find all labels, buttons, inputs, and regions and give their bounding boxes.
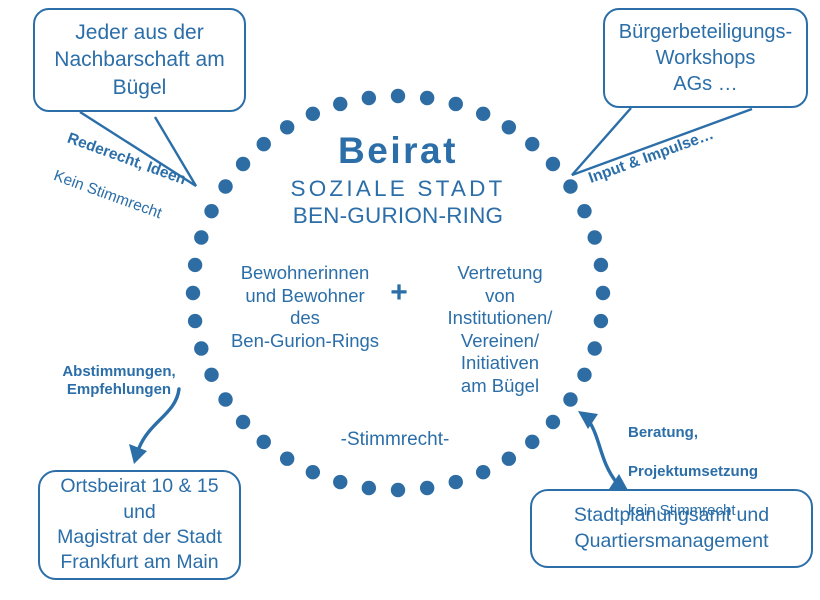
caption-input-impulse: Input & Impulse…	[586, 125, 717, 189]
ring-dot	[362, 481, 376, 495]
ring-dot	[280, 452, 294, 466]
ring-dot	[594, 258, 608, 272]
ring-dot	[204, 368, 218, 382]
subtitle-soziale-stadt: SOZIALE STADT	[248, 175, 548, 202]
ring-dot	[333, 97, 347, 111]
arrowhead-abstimmungen	[129, 444, 147, 464]
ring-dot	[563, 179, 577, 193]
ring-dot	[218, 179, 232, 193]
ring-dot	[420, 91, 434, 105]
caption-beratung-line3: kein Stimmrecht	[628, 501, 808, 521]
ring-dot	[449, 475, 463, 489]
plus-icon: +	[386, 278, 412, 308]
ring-dot	[476, 465, 490, 479]
ring-dot	[525, 435, 539, 449]
bubble-neighbourhood[interactable]: Jeder aus der Nachbarschaft am Bügel	[33, 8, 246, 112]
ring-dot	[588, 341, 602, 355]
voting-rights-note: -Stimmrecht-	[300, 428, 490, 451]
box-ortsbeirat-text: Ortsbeirat 10 & 15 und Magistrat der Sta…	[57, 474, 222, 575]
caption-abstimmungen: Abstimmungen, Empfehlungen	[44, 363, 194, 400]
ring-dot	[577, 204, 591, 218]
ring-dot	[186, 286, 200, 300]
page-title: Beirat	[248, 128, 548, 173]
bubble-participation-text: Bürgerbeteiligungs- Workshops AGs …	[619, 19, 792, 97]
column-institutions: Vertretung von Institutionen/ Vereinen/ …	[420, 262, 580, 397]
box-ortsbeirat[interactable]: Ortsbeirat 10 & 15 und Magistrat der Sta…	[38, 470, 241, 580]
ring-dot	[306, 465, 320, 479]
column-residents: Bewohnerinnen und Bewohner des Ben-Gurio…	[215, 262, 395, 352]
ring-dot	[306, 107, 320, 121]
ring-dot	[546, 415, 560, 429]
arrow-beratung	[589, 421, 617, 483]
ring-dot	[391, 483, 405, 497]
ring-dot	[333, 475, 347, 489]
ring-dot	[204, 204, 218, 218]
subtitle-ben-gurion-ring: BEN-GURION-RING	[248, 202, 548, 229]
caption-beratung-line2: Projektumsetzung	[628, 462, 808, 482]
ring-dot	[588, 230, 602, 244]
ring-dot	[194, 341, 208, 355]
ring-dot	[596, 286, 610, 300]
ring-dot	[449, 97, 463, 111]
ring-dot	[188, 258, 202, 272]
ring-dot	[257, 435, 271, 449]
ring-dot	[362, 91, 376, 105]
ring-dot	[420, 481, 434, 495]
ring-dot	[502, 452, 516, 466]
ring-dot	[391, 89, 405, 103]
ring-dot	[194, 230, 208, 244]
caption-beratung-line1: Beratung,	[628, 423, 808, 443]
bubble-participation[interactable]: Bürgerbeteiligungs- Workshops AGs …	[603, 8, 808, 108]
bubble-neighbourhood-text: Jeder aus der Nachbarschaft am Bügel	[54, 19, 224, 101]
ring-dot	[476, 107, 490, 121]
ring-dot	[218, 392, 232, 406]
ring-dot	[188, 314, 202, 328]
caption-beratung: Beratung, Projektumsetzung kein Stimmrec…	[628, 403, 808, 540]
ring-dot	[594, 314, 608, 328]
ring-dot	[236, 415, 250, 429]
arrowhead-beratung-up	[578, 411, 598, 429]
caption-rederecht: Rederecht, Ideen Kein Stimmrecht	[44, 110, 196, 247]
diagram-canvas: Jeder aus der Nachbarschaft am Bügel Bür…	[0, 0, 820, 600]
